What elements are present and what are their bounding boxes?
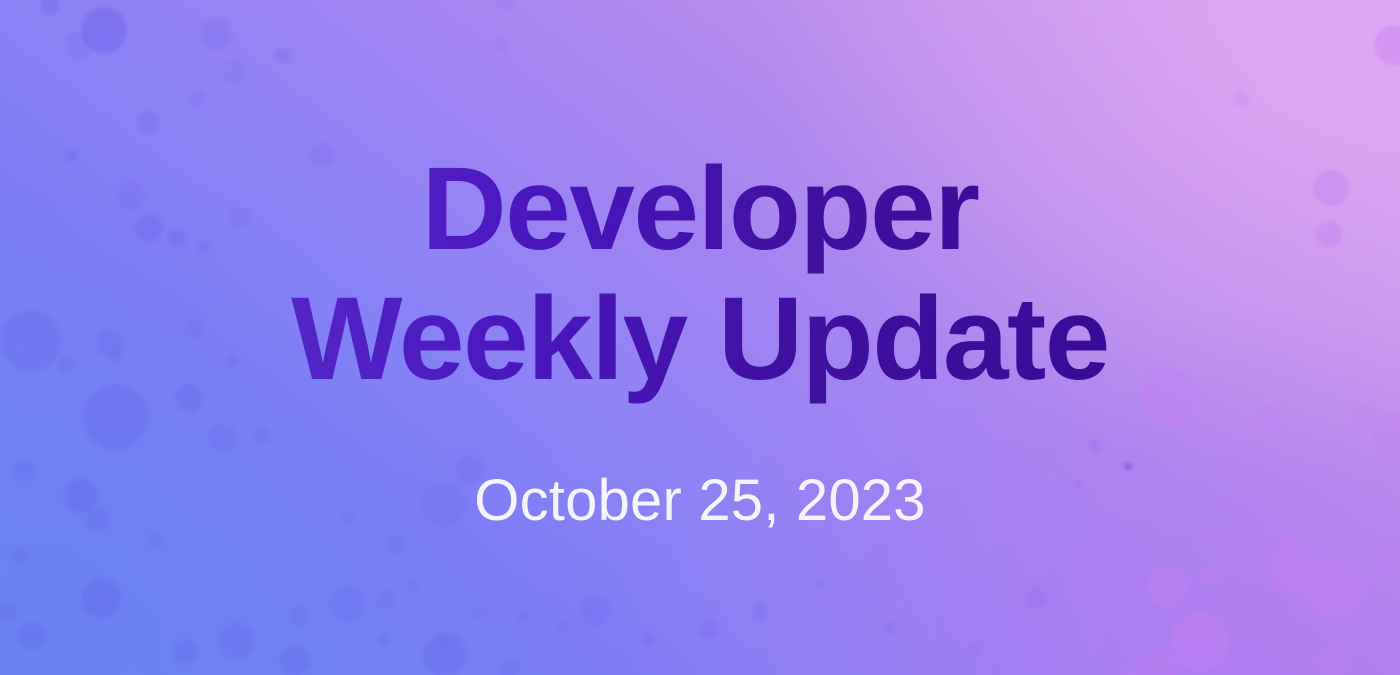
banner-date: October 25, 2023 bbox=[474, 470, 925, 532]
banner-headline: Developer Weekly Update bbox=[285, 144, 1115, 404]
newsletter-banner: Developer Weekly Update October 25, 2023 bbox=[0, 0, 1400, 675]
headline-line-2: Weekly Update bbox=[291, 274, 1109, 404]
headline-line-1: Developer bbox=[291, 144, 1109, 274]
banner-content: Developer Weekly Update October 25, 2023 bbox=[0, 0, 1400, 675]
